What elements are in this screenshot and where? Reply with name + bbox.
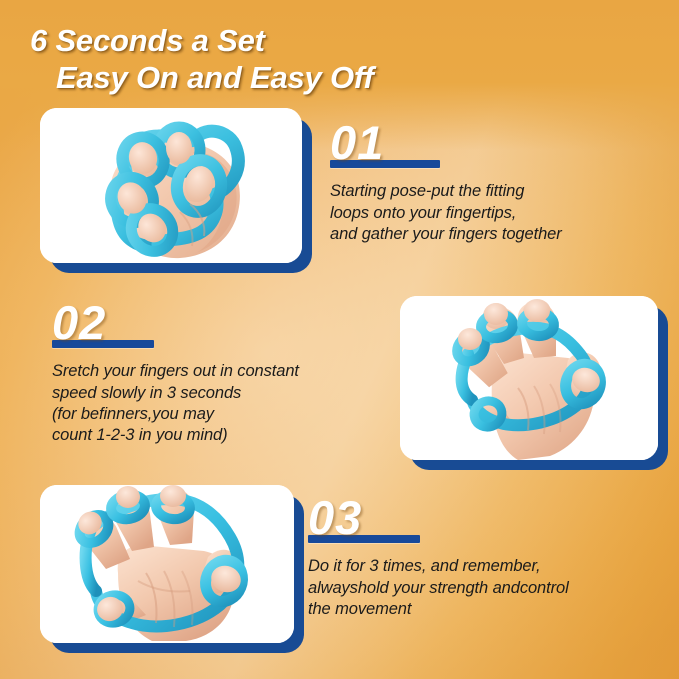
step-2-text: Sretch your fingers out in constant spee… (52, 361, 400, 447)
step-1: 01 Starting pose-put the fitting loops o… (330, 120, 666, 245)
product-instruction-poster: 6 Seconds a Set Easy On and Easy Off (0, 0, 679, 679)
step-1-text: Starting pose-put the fitting loops onto… (330, 181, 666, 245)
step-1-number: 01 (330, 120, 666, 165)
step-2-photo (400, 296, 658, 460)
step-1-photo (40, 108, 302, 263)
step-3: 03 Do it for 3 times, and remember, alwa… (308, 495, 664, 620)
hand-stretched-illustration-b (40, 485, 294, 643)
photo-card-3 (40, 485, 294, 643)
hand-stretched-illustration-a (400, 296, 658, 460)
hand-gathered-illustration (40, 108, 302, 263)
poster-title: 6 Seconds a Set Easy On and Easy Off (30, 22, 374, 96)
step-2: 02 Sretch your fingers out in constant s… (52, 300, 400, 447)
step-3-photo (40, 485, 294, 643)
step-2-number: 02 (52, 300, 400, 345)
photo-card-2 (400, 296, 658, 460)
step-3-number: 03 (308, 495, 664, 540)
photo-card-1 (40, 108, 302, 263)
step-3-text: Do it for 3 times, and remember, alwaysh… (308, 556, 664, 620)
title-line-2: Easy On and Easy Off (56, 59, 374, 96)
title-line-1: 6 Seconds a Set (30, 22, 374, 59)
